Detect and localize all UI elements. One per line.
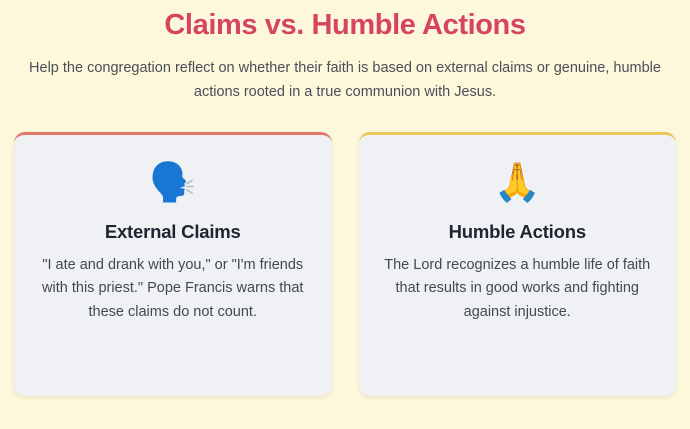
- card-body-humble-actions: The Lord recognizes a humble life of fai…: [377, 254, 659, 324]
- slide-container: Claims vs. Humble Actions Help the congr…: [0, 0, 690, 429]
- comparison-card-row: 🗣️ External Claims "I ate and drank with…: [14, 132, 676, 396]
- card-title-humble-actions: Humble Actions: [449, 221, 586, 243]
- page-title: Claims vs. Humble Actions: [14, 0, 676, 43]
- card-humble-actions[interactable]: 🙏 Humble Actions The Lord recognizes a h…: [359, 132, 677, 396]
- card-body-external-claims: "I ate and drank with you," or "I'm frie…: [32, 254, 314, 324]
- page-subtitle: Help the congregation reflect on whether…: [25, 57, 665, 105]
- card-title-external-claims: External Claims: [105, 221, 241, 243]
- card-external-claims[interactable]: 🗣️ External Claims "I ate and drank with…: [14, 132, 332, 396]
- speaking-head-icon: 🗣️: [149, 161, 196, 205]
- folded-hands-icon: 🙏: [494, 161, 541, 205]
